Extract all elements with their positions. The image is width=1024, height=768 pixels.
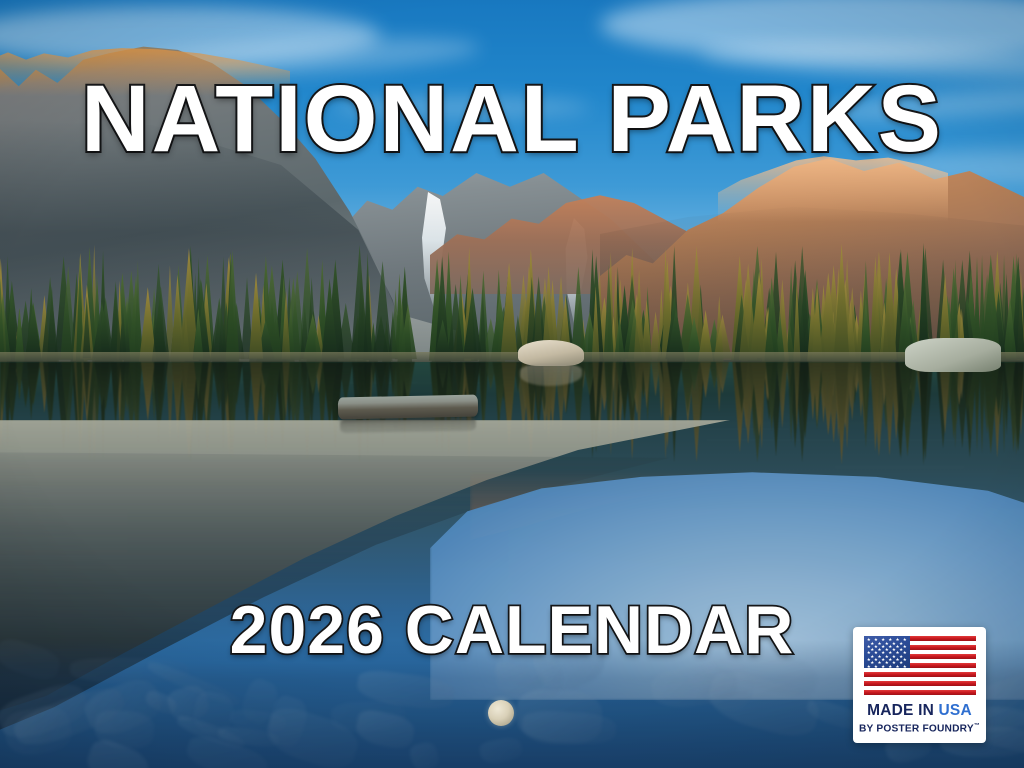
flag-stripe [864, 690, 976, 695]
flag-star: ★ [888, 665, 892, 670]
flag-star: ★ [896, 665, 900, 670]
flag-star: ★ [903, 651, 907, 656]
shoreline-boulder [518, 340, 584, 366]
flag-star: ★ [874, 665, 878, 670]
flag-star: ★ [867, 665, 871, 670]
calendar-cover: NATIONAL PARKS 2026 CALENDAR ★★★★★★★★★★★… [0, 0, 1024, 768]
shoreline-rock-slab [905, 338, 1001, 372]
flag-star: ★ [903, 658, 907, 663]
flag-star: ★ [903, 665, 907, 670]
badge-made-in-text: MADE IN [867, 702, 938, 719]
flag-star: ★ [903, 645, 907, 650]
page-title: NATIONAL PARKS [0, 72, 1024, 167]
badge-usa-text: USA [939, 702, 972, 719]
floating-log [338, 395, 478, 420]
flag-star: ★ [881, 665, 885, 670]
submerged-rock [408, 740, 441, 768]
badge-foundry-text: BY POSTER FOUNDRY [859, 723, 974, 734]
trademark-icon: ™ [974, 723, 980, 729]
submerged-rock [517, 689, 603, 744]
submerged-rock [478, 735, 524, 766]
flag-star: ★ [903, 638, 907, 643]
badge-line-poster-foundry: BY POSTER FOUNDRY™ [859, 723, 980, 734]
flag-canton: ★★★★★★★★★★★★★★★★★★★★★★★★★★★★★★★★★★★★★★★★… [864, 636, 910, 668]
badge-line-made-in-usa: MADE IN USA [867, 702, 972, 720]
us-flag-icon: ★★★★★★★★★★★★★★★★★★★★★★★★★★★★★★★★★★★★★★★★… [864, 636, 976, 695]
conifer-forest [0, 236, 1024, 364]
floating-log-reflection [340, 417, 476, 433]
pale-stone [488, 700, 514, 726]
made-in-usa-badge: ★★★★★★★★★★★★★★★★★★★★★★★★★★★★★★★★★★★★★★★★… [853, 627, 986, 743]
